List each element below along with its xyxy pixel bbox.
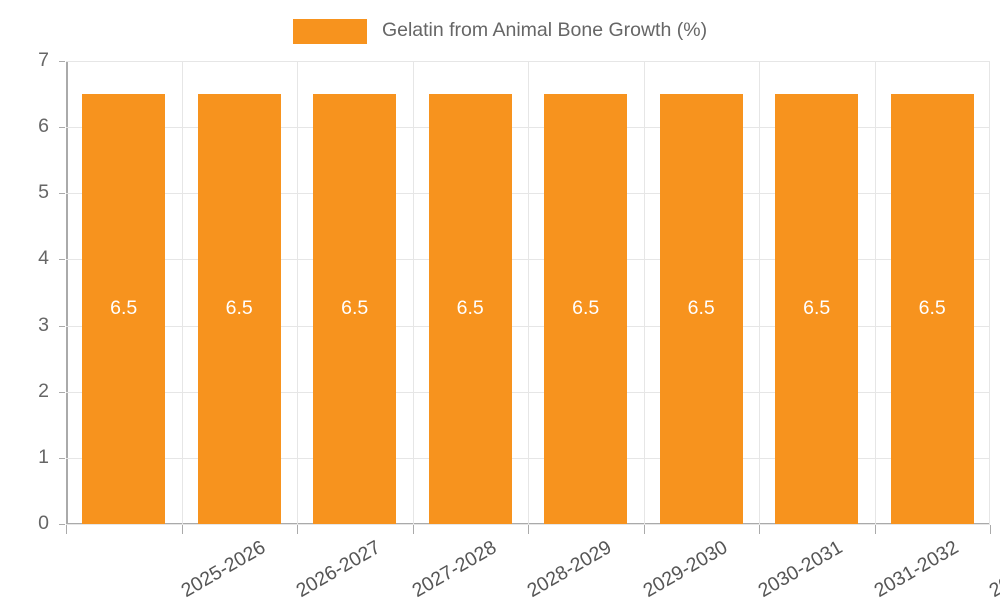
x-tick-mark: [528, 525, 529, 534]
y-tick-mark: [59, 458, 65, 459]
gridline-vertical: [989, 61, 990, 524]
bar-value-label: 6.5: [660, 299, 743, 319]
y-tick-mark: [59, 326, 65, 327]
bar[interactable]: 6.5: [660, 94, 743, 524]
y-tick-label: 2: [9, 382, 49, 402]
x-tick-mark: [182, 525, 183, 534]
bar-value-label: 6.5: [198, 299, 281, 319]
x-tick-label: 2031-2032: [871, 538, 962, 602]
y-tick-mark: [59, 193, 65, 194]
bar[interactable]: 6.5: [775, 94, 858, 524]
bar[interactable]: 6.5: [429, 94, 512, 524]
bar-chart: Gelatin from Animal Bone Growth (%) 6.56…: [0, 0, 1000, 600]
bar[interactable]: 6.5: [82, 94, 165, 524]
x-tick-mark: [413, 525, 414, 534]
gridline-vertical: [297, 61, 298, 524]
x-tick-label: 2030-2031: [756, 538, 847, 602]
y-tick-label: 0: [9, 514, 49, 534]
bar[interactable]: 6.5: [891, 94, 974, 524]
x-tick-label: 2028-2029: [525, 538, 616, 602]
gridline-vertical: [759, 61, 760, 524]
bar[interactable]: 6.5: [313, 94, 396, 524]
x-tick-mark: [759, 525, 760, 534]
gridline-vertical: [875, 61, 876, 524]
x-tick-mark: [66, 525, 67, 534]
x-tick-label: 2032-2033: [987, 538, 1000, 602]
plot-area: 6.56.56.56.56.56.56.56.5: [66, 61, 990, 524]
y-tick-label: 3: [9, 316, 49, 336]
legend-swatch-series-0[interactable]: [293, 19, 367, 44]
y-tick-mark: [59, 392, 65, 393]
gridline-vertical: [528, 61, 529, 524]
bar-value-label: 6.5: [891, 299, 974, 319]
gridline-vertical: [413, 61, 414, 524]
y-tick-mark: [59, 61, 65, 62]
bar-value-label: 6.5: [429, 299, 512, 319]
bar[interactable]: 6.5: [198, 94, 281, 524]
y-tick-mark: [59, 127, 65, 128]
x-tick-label: 2026-2027: [294, 538, 385, 602]
y-tick-label: 4: [9, 249, 49, 269]
x-tick-label: 2027-2028: [409, 538, 500, 602]
bar[interactable]: 6.5: [544, 94, 627, 524]
legend-label-series-0[interactable]: Gelatin from Animal Bone Growth (%): [382, 21, 707, 41]
bar-value-label: 6.5: [313, 299, 396, 319]
x-tick-mark: [644, 525, 645, 534]
chart-legend: Gelatin from Animal Bone Growth (%): [0, 14, 1000, 48]
bar-value-label: 6.5: [775, 299, 858, 319]
x-tick-mark: [990, 525, 991, 534]
x-tick-mark: [875, 525, 876, 534]
y-tick-label: 5: [9, 183, 49, 203]
x-tick-mark: [297, 525, 298, 534]
gridline-vertical: [644, 61, 645, 524]
x-tick-label: 2025-2026: [178, 538, 269, 602]
y-tick-label: 6: [9, 117, 49, 137]
bar-value-label: 6.5: [544, 299, 627, 319]
y-tick-mark: [59, 524, 65, 525]
y-tick-mark: [59, 259, 65, 260]
gridline-vertical: [182, 61, 183, 524]
y-tick-label: 7: [9, 51, 49, 71]
bar-value-label: 6.5: [82, 299, 165, 319]
x-tick-label: 2029-2030: [640, 538, 731, 602]
y-tick-label: 1: [9, 448, 49, 468]
